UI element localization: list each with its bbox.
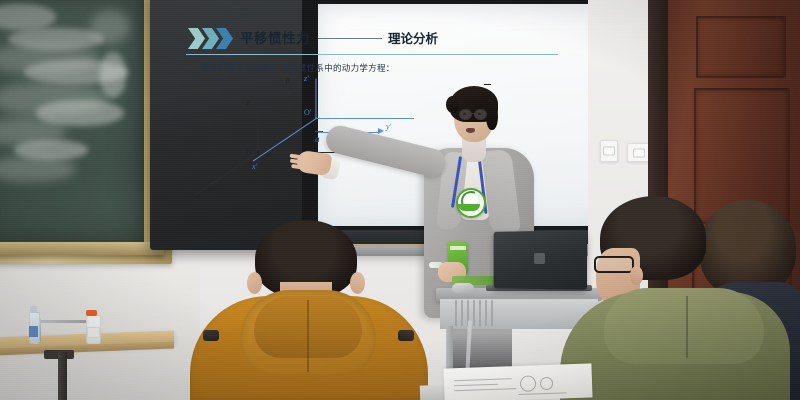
mouth — [466, 128, 475, 133]
vector-label-a: a — [315, 134, 320, 144]
instructor-hair-bun — [446, 96, 459, 113]
slide-header: 平移惯性力 理论分析 — [188, 25, 558, 53]
hood-center-seam — [307, 300, 309, 372]
slide-subtitle: 理论分析 — [388, 28, 438, 47]
printed-handout[interactable] — [443, 363, 592, 400]
slide-title: 平移惯性力 — [240, 27, 310, 47]
instructor-hair-side — [486, 100, 498, 130]
bottle-cap — [30, 306, 37, 313]
glasses-bridge — [470, 113, 475, 114]
student-front-ear-right — [350, 272, 365, 294]
axis-z-prime — [315, 79, 316, 119]
axis-z — [257, 99, 258, 153]
chevron-icon-1 — [188, 28, 205, 49]
chalkboard-surface — [0, 0, 144, 243]
coat-toggle-right — [398, 330, 414, 341]
student-right-ear — [630, 266, 643, 285]
slide-lead-text: 用伽利略坐标变换推导非惯性系中的动力学方程： — [201, 62, 395, 74]
label-axis-z-prime: z' — [304, 74, 309, 83]
slide-header-underline — [186, 54, 558, 55]
coat-toggle-left — [203, 330, 219, 341]
desk-leg — [58, 352, 67, 400]
classroom-photo: SEEWO 平移惯性力 理论分析 用伽利略坐标变换推导非惯性系中的动力学方程： … — [0, 0, 800, 400]
origin-marker-O — [257, 151, 259, 153]
label-axis-z: z — [246, 98, 249, 107]
podium-cable-bundle — [455, 300, 495, 326]
student-front-ear-left — [247, 272, 262, 294]
laptop-logo-icon — [534, 253, 545, 264]
axis-x — [195, 152, 259, 195]
id-card-stripe — [450, 246, 466, 250]
label-origin-O: O — [246, 148, 252, 157]
metal-rod-on-desk — [36, 320, 90, 323]
label-point-P: P — [285, 76, 290, 86]
chalkboard-frame — [0, 0, 172, 264]
student-right-hood — [604, 288, 764, 364]
bottle-label — [29, 326, 38, 337]
vector-symbol: a — [315, 134, 320, 144]
badge-lower-arc — [458, 204, 480, 211]
eye-left — [463, 113, 466, 115]
label-axis-y-prime: y' — [386, 122, 391, 131]
spray-bottle-label — [87, 327, 100, 338]
label-origin-O-prime: O' — [304, 108, 311, 117]
light-switch-plate[interactable] — [600, 140, 618, 162]
origin-marker-O-prime — [315, 117, 317, 119]
axis-y-prime — [316, 118, 414, 119]
student-right-hood-seam — [686, 296, 688, 358]
label-axis-x: x — [193, 214, 197, 223]
eye-right — [478, 113, 481, 115]
computer-mouse[interactable] — [452, 283, 474, 293]
title-divider-rule — [318, 38, 382, 39]
vector-arrowhead — [378, 128, 384, 134]
point-P-marker — [288, 92, 290, 94]
label-axis-x-prime: x' — [252, 162, 257, 171]
student-glasses — [594, 256, 634, 273]
spray-nozzle-icon — [86, 310, 97, 316]
chalk-tray — [0, 242, 164, 255]
